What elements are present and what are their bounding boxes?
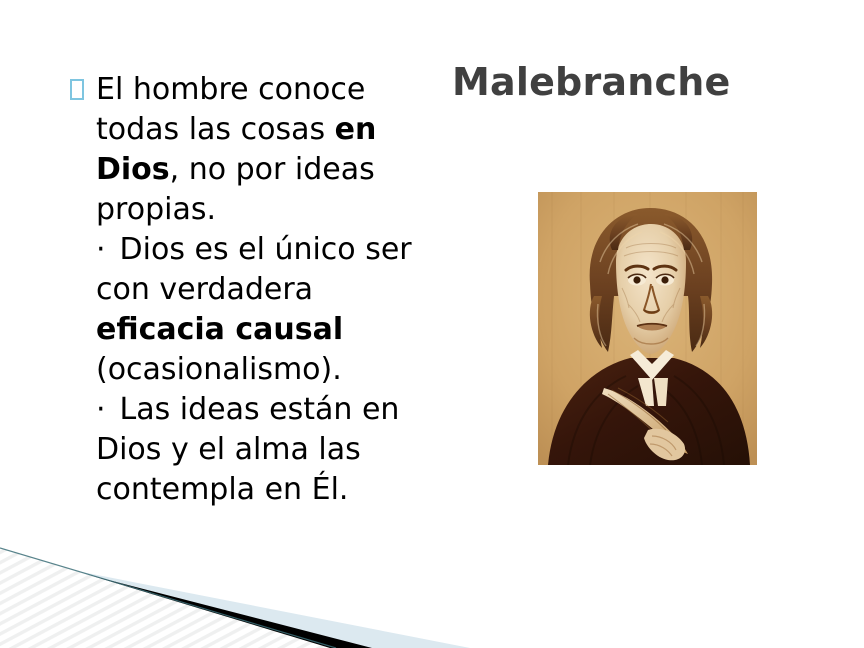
sub-bullet-dot: · (96, 230, 110, 270)
corner-decoration-graphic (0, 520, 520, 648)
slide-canvas: Malebranche El hombre conoce todas las c… (0, 0, 864, 648)
body-text-run: El hombre conoce todas las cosas (96, 72, 365, 147)
bullet-box-icon (70, 79, 84, 100)
emphasis-text: eficacia causal (96, 312, 343, 347)
body-text-block: El hombre conoce todas las cosas en Dios… (70, 70, 420, 510)
portrait-image (538, 192, 757, 465)
body-text-content: El hombre conoce todas las cosas en Dios… (96, 70, 420, 510)
body-text-run: Las ideas están en Dios y el alma las co… (96, 392, 399, 507)
bulleted-paragraph-group: El hombre conoce todas las cosas en Dios… (70, 70, 420, 510)
body-text-run: Dios es el único ser con verdadera (96, 232, 412, 307)
sub-bullet-dot: · (96, 390, 110, 430)
page-title: Malebranche (452, 58, 812, 106)
body-text-run: (ocasionalismo). (96, 352, 342, 387)
